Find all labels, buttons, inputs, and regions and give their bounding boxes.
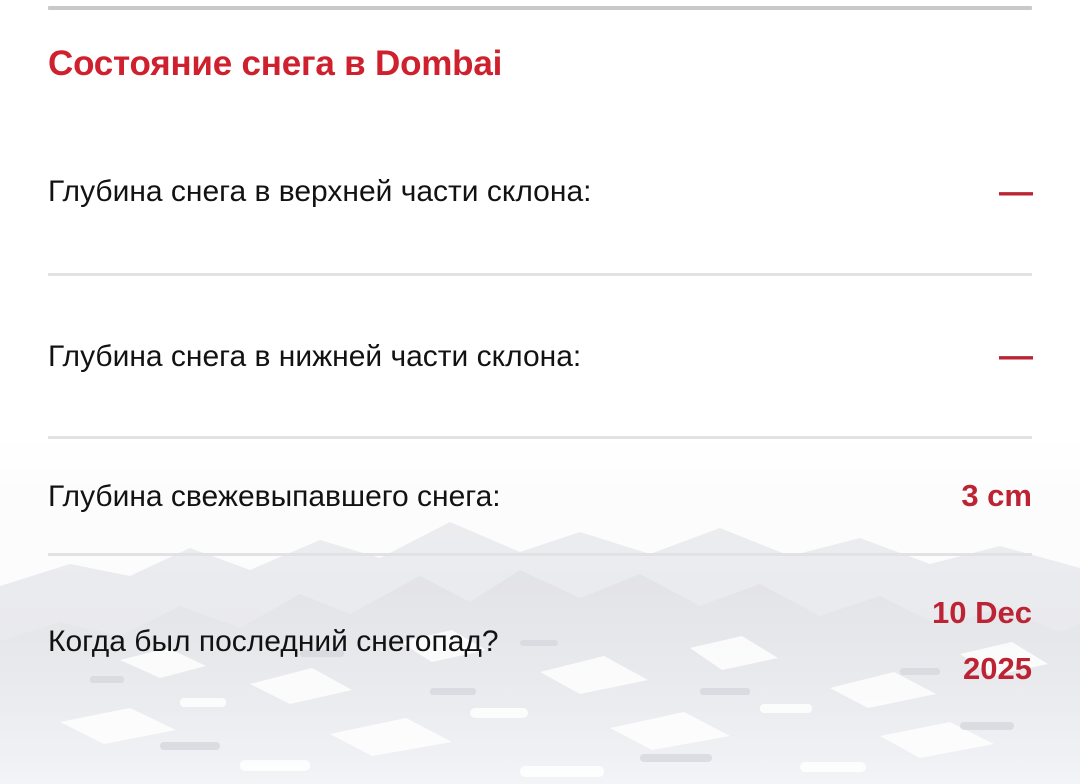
row-value-fresh-snow-depth: 3 cm bbox=[912, 468, 1032, 524]
page-title: Состояние снега в Dombai bbox=[45, 10, 1035, 84]
table-row: Глубина снега в нижней части склона: — bbox=[48, 273, 1032, 436]
snow-conditions-table: Глубина снега в верхней части склона: — … bbox=[45, 110, 1032, 726]
table-row: Глубина свежевыпавшего снега: 3 cm bbox=[48, 436, 1032, 553]
row-label-fresh-snow-depth: Глубина свежевыпавшего снега: bbox=[48, 467, 501, 526]
snow-report-widget: Состояние снега в Dombai Глубина снега в… bbox=[0, 6, 1080, 784]
row-label-last-snowfall: Когда был последний снегопад? bbox=[48, 612, 499, 671]
row-value-last-snowfall: 10 Dec 2025 bbox=[912, 585, 1032, 697]
row-label-upper-slope-depth: Глубина снега в верхней части склона: bbox=[48, 162, 591, 221]
row-value-lower-slope-depth: — bbox=[912, 339, 1032, 373]
row-label-lower-slope-depth: Глубина снега в нижней части склона: bbox=[48, 327, 581, 386]
row-value-upper-slope-depth: — bbox=[912, 175, 1032, 209]
table-row: Глубина снега в верхней части склона: — bbox=[48, 110, 1032, 273]
table-row: Когда был последний снегопад? 10 Dec 202… bbox=[48, 553, 1032, 726]
